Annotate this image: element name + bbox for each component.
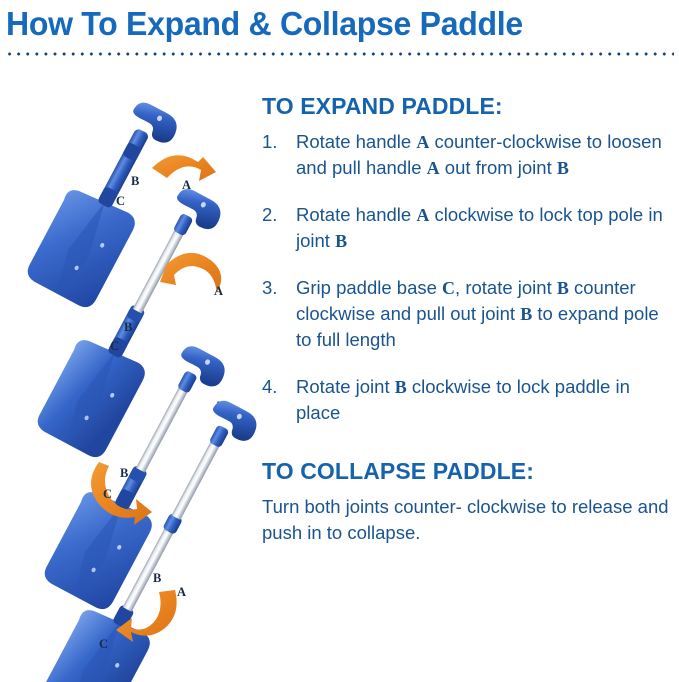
step-item-1: 1. Rotate handle A counter-clockwise to … (262, 129, 679, 181)
step-item-3: 3. Grip paddle base C, rotate joint B co… (262, 275, 679, 353)
label-b: B (153, 571, 161, 585)
step-number: 2. (262, 202, 296, 254)
chrome-pole-upper (172, 439, 221, 520)
label-c: C (103, 487, 112, 501)
instructions-panel: TO EXPAND PADDLE: 1. Rotate handle A cou… (262, 92, 679, 682)
header-divider (5, 52, 674, 56)
step-text: Rotate handle A counter-clockwise to loo… (296, 129, 679, 181)
label-c: C (110, 339, 119, 353)
expand-steps-list: 1. Rotate handle A counter-clockwise to … (262, 129, 679, 426)
label-b: B (124, 320, 132, 334)
step-number: 3. (262, 275, 296, 353)
step-item-4: 4. Rotate joint B clockwise to lock padd… (262, 374, 679, 426)
label-c: C (116, 194, 125, 208)
page-title: How To Expand & Collapse Paddle (6, 4, 653, 44)
paddle-stages-graphic: B C A (0, 62, 258, 682)
label-a: A (214, 284, 223, 298)
step-item-2: 2. Rotate handle A clockwise to lock top… (262, 202, 679, 254)
step-number: 4. (262, 374, 296, 426)
label-a: A (177, 585, 186, 599)
label-c: C (99, 637, 108, 651)
step-number: 1. (262, 129, 296, 181)
chrome-pole (136, 385, 189, 473)
label-b: B (120, 466, 128, 480)
expand-section-heading: TO EXPAND PADDLE: (262, 92, 679, 120)
collapse-section-heading: TO COLLAPSE PADDLE: (262, 457, 679, 485)
step-text: Rotate handle A clockwise to lock top po… (296, 202, 679, 254)
paddle-illustration: B C A (0, 62, 258, 682)
step-text: Rotate joint B clockwise to lock paddle … (296, 374, 679, 426)
label-b: B (131, 174, 139, 188)
step-text: Grip paddle base C, rotate joint B count… (296, 275, 679, 353)
collapse-instruction-text: Turn both joints counter- clockwise to r… (262, 494, 679, 546)
